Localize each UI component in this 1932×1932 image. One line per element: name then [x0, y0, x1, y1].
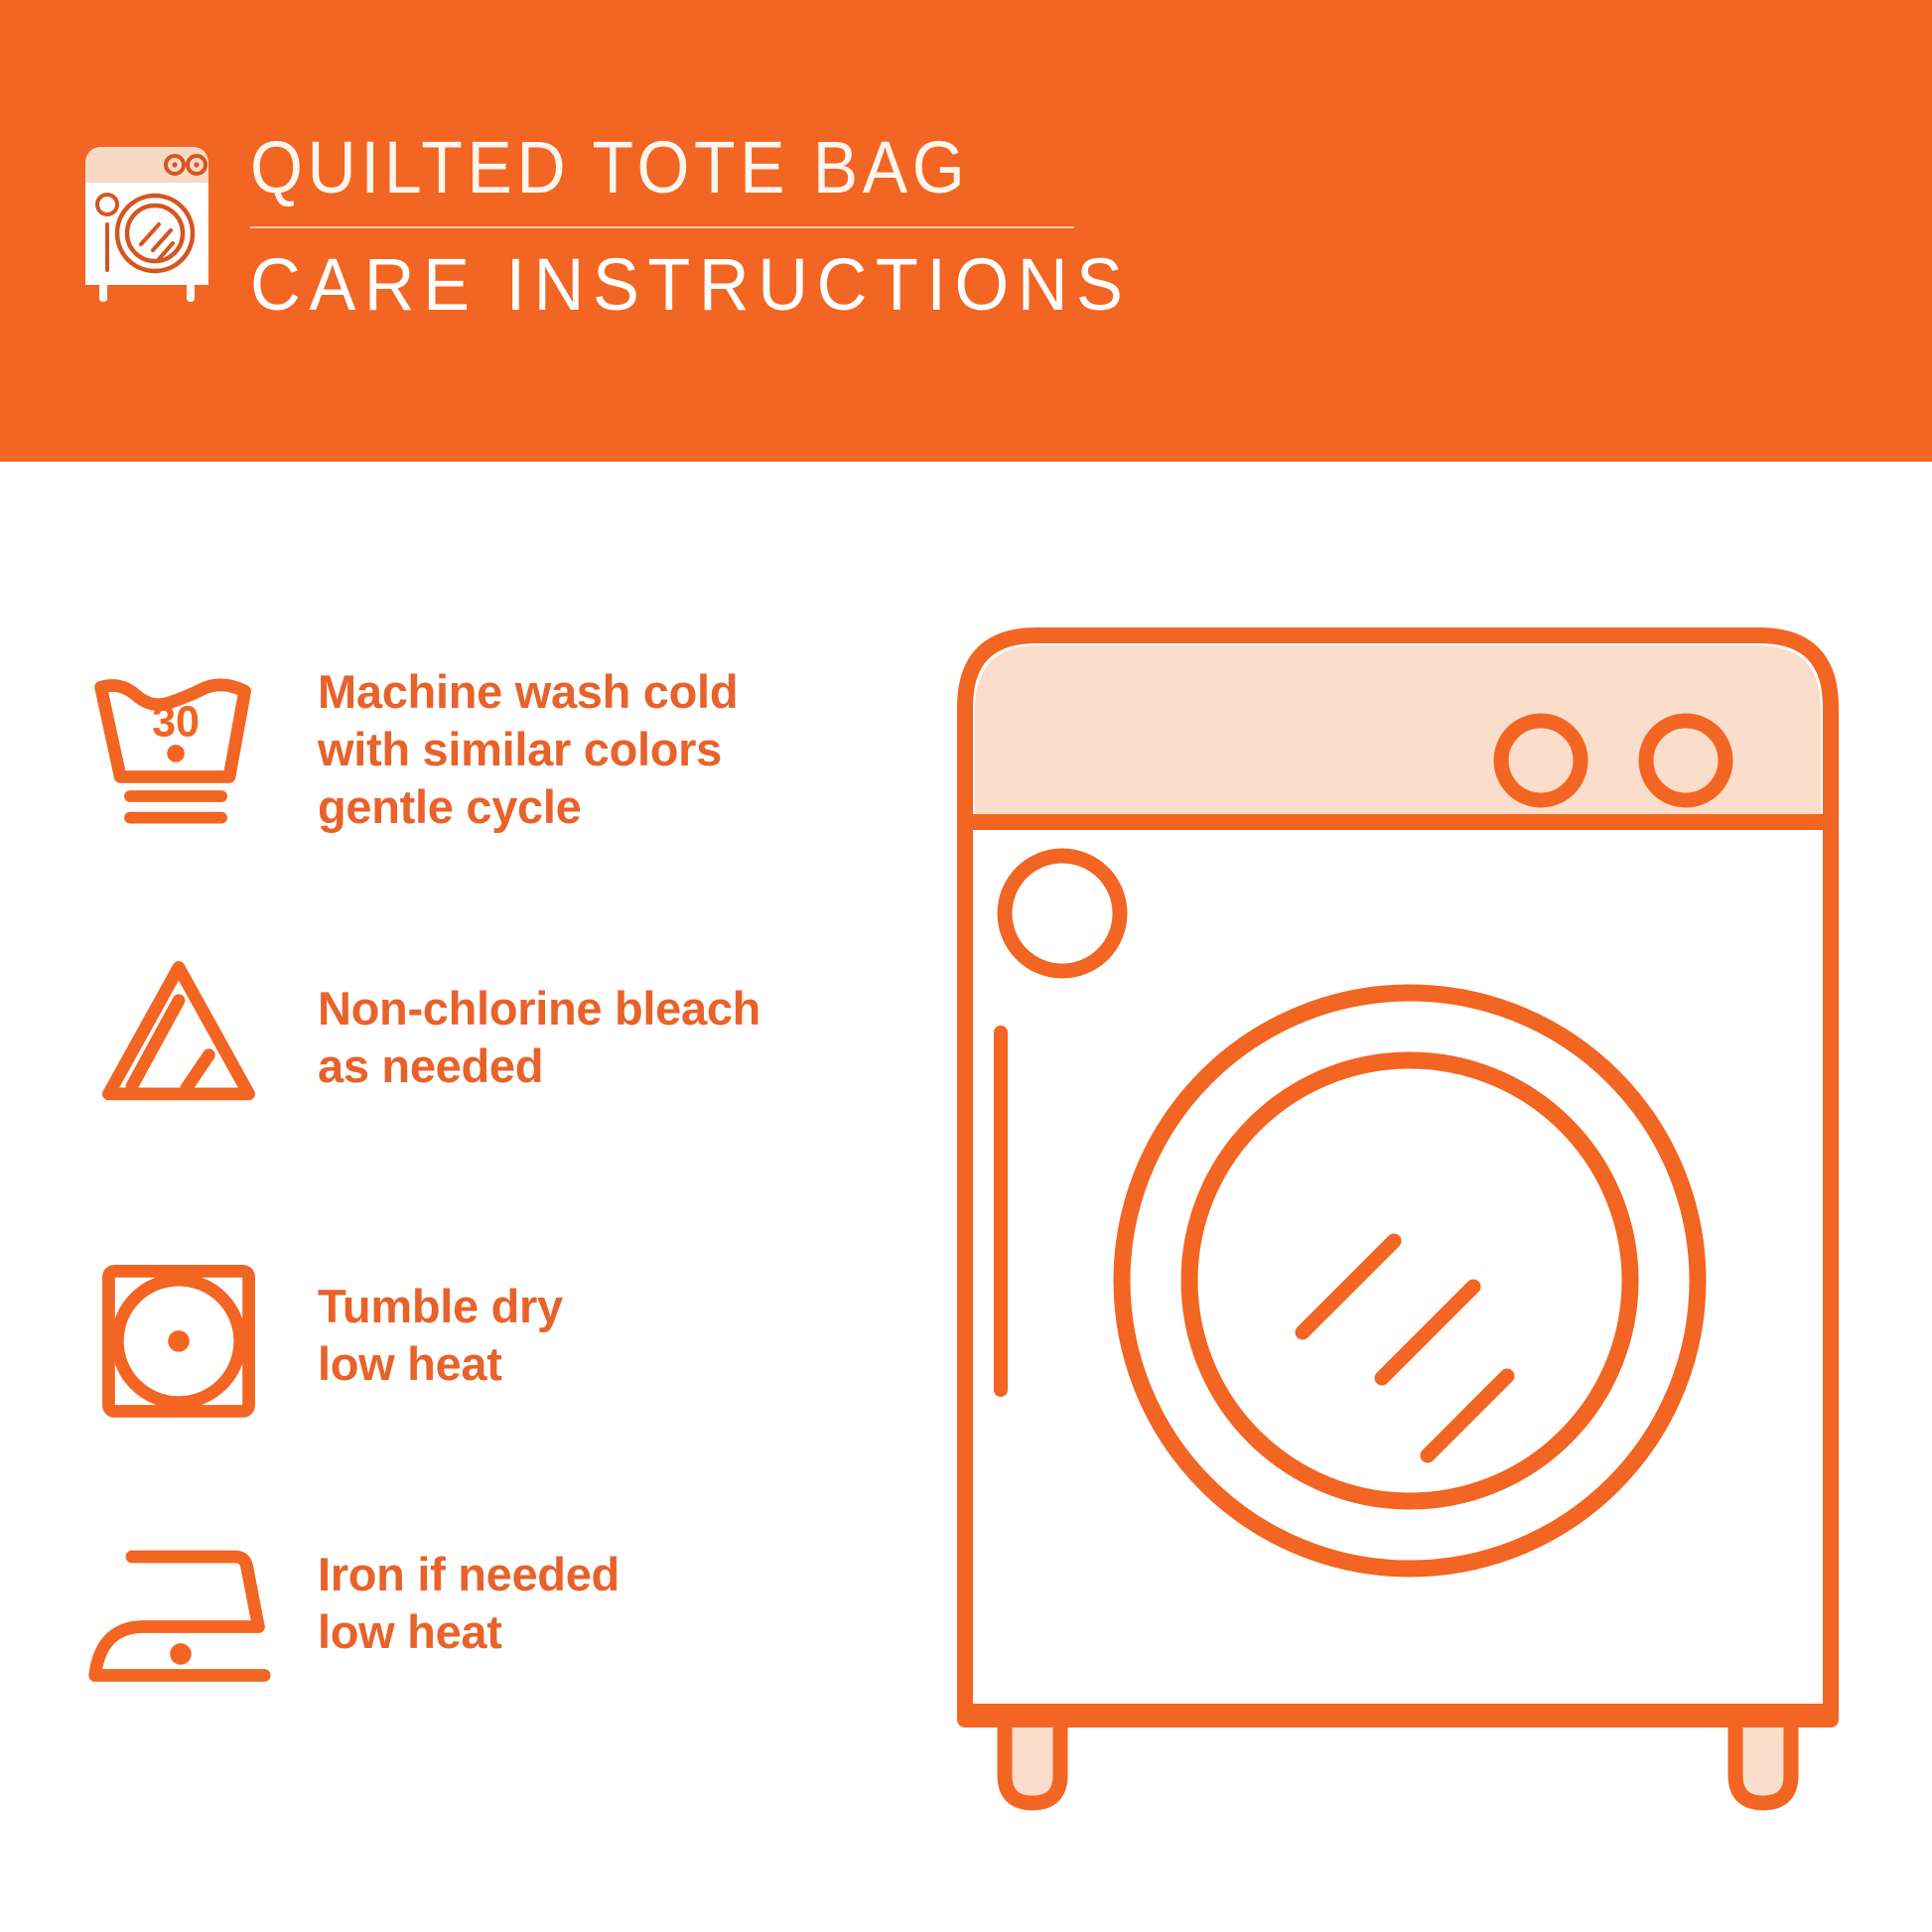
knob-left: [1501, 721, 1581, 800]
care-item-tumble-dry: Tumble dry low heat: [79, 1236, 894, 1435]
front-load-washing-machine-illustration: [953, 616, 1866, 1847]
care-line: low heat: [318, 1603, 620, 1661]
care-item-iron: Iron if needed low heat: [79, 1504, 894, 1703]
non-chlorine-bleach-triangle-icon: [79, 938, 278, 1137]
care-line: gentle cycle: [318, 778, 738, 836]
washing-machine-icon: [77, 129, 216, 303]
care-item-label-tumble-dry: Tumble dry low heat: [318, 1278, 563, 1393]
care-line: Non-chlorine bleach: [318, 980, 760, 1037]
care-line: Tumble dry: [318, 1278, 563, 1335]
knob-right: [1646, 721, 1725, 800]
header-title-block: QUILTED TOTE BAG CARE INSTRUCTIONS: [244, 129, 1177, 322]
header-content: QUILTED TOTE BAG CARE INSTRUCTIONS: [77, 129, 1177, 322]
header-banner: QUILTED TOTE BAG CARE INSTRUCTIONS: [0, 0, 1932, 462]
tumble-dry-low-icon: [79, 1236, 278, 1435]
care-item-label-bleach: Non-chlorine bleach as needed: [318, 980, 760, 1095]
iron-low-heat-icon: [79, 1504, 278, 1703]
care-instruction-list: 30 Machine wash cold with similar colors…: [0, 462, 933, 1932]
care-line: low heat: [318, 1335, 563, 1393]
wash-temperature-label: 30: [152, 698, 200, 746]
care-item-bleach: Non-chlorine bleach as needed: [79, 938, 894, 1137]
care-line: Iron if needed: [318, 1546, 620, 1603]
care-line: with similar colors: [318, 721, 738, 778]
care-item-label-machine-wash: Machine wash cold with similar colors ge…: [318, 663, 738, 835]
wash-basin-30-gentle-icon: 30: [79, 650, 278, 849]
page-title-secondary: CARE INSTRUCTIONS: [250, 248, 1131, 322]
care-line: as needed: [318, 1037, 760, 1095]
care-item-machine-wash: 30 Machine wash cold with similar colors…: [79, 650, 894, 849]
title-divider: [250, 226, 1074, 228]
care-item-label-iron: Iron if needed low heat: [318, 1546, 620, 1661]
care-line: Machine wash cold: [318, 663, 738, 721]
page-title-primary: QUILTED TOTE BAG: [250, 131, 1103, 205]
